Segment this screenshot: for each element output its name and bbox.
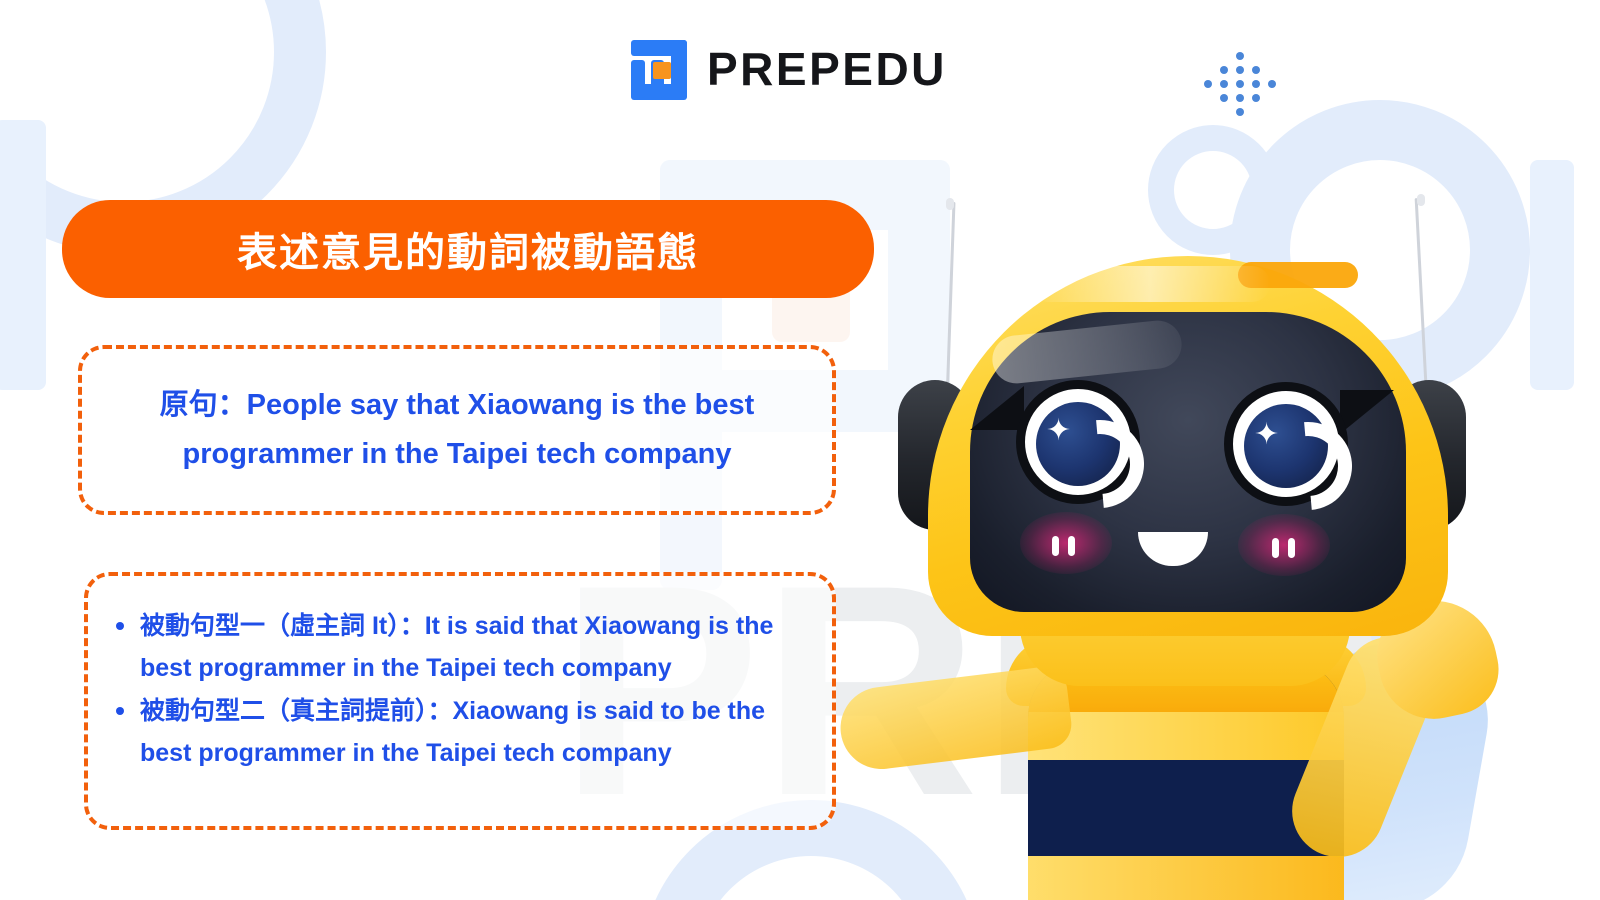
antenna-tip-left-icon xyxy=(946,198,954,210)
list-item: 被動句型一（虛主詞 It）：It is said that Xiaowang i… xyxy=(140,606,814,689)
bee-robot-mascot: ✦ ✦ xyxy=(820,80,1600,900)
original-sentence-text: 原句：People say that Xiaowang is the best … xyxy=(82,381,832,480)
prepedu-logo-icon xyxy=(625,38,687,100)
decor-bar-left xyxy=(0,120,46,390)
blush-tick-icon xyxy=(1288,538,1295,558)
passive-forms-list: 被動句型一（虛主詞 It）：It is said that Xiaowang i… xyxy=(88,576,832,774)
blush-right-icon xyxy=(1238,514,1330,576)
blush-tick-icon xyxy=(1052,536,1059,556)
passive-forms-card: 被動句型一（虛主詞 It）：It is said that Xiaowang i… xyxy=(84,572,836,830)
eyelash-right-icon xyxy=(1340,390,1394,434)
antenna-left-icon xyxy=(946,202,956,402)
blush-tick-icon xyxy=(1068,536,1075,556)
antenna-tip-right-icon xyxy=(1417,194,1425,206)
sparkle-left-icon: ✦ xyxy=(1046,416,1071,446)
original-sentence-card: 原句：People say that Xiaowang is the best … xyxy=(78,345,836,515)
infographic-canvas: PREP PREPEDU 表述意見的動詞被動語態 原句：People say t… xyxy=(0,0,1600,900)
eyelash-left-icon xyxy=(970,386,1024,430)
title-text: 表述意見的動詞被動語態 xyxy=(237,220,699,278)
list-item: 被動句型二（真主詞提前）：Xiaowang is said to be the … xyxy=(140,691,814,774)
helmet-gloss xyxy=(1030,266,1270,302)
title-banner: 表述意見的動詞被動語態 xyxy=(62,200,874,298)
antenna-right-icon xyxy=(1415,198,1429,403)
blush-left-icon xyxy=(1020,512,1112,574)
blush-tick-icon xyxy=(1272,538,1279,558)
body-stripes xyxy=(1028,660,1344,900)
sparkle-right-icon: ✦ xyxy=(1254,420,1279,450)
